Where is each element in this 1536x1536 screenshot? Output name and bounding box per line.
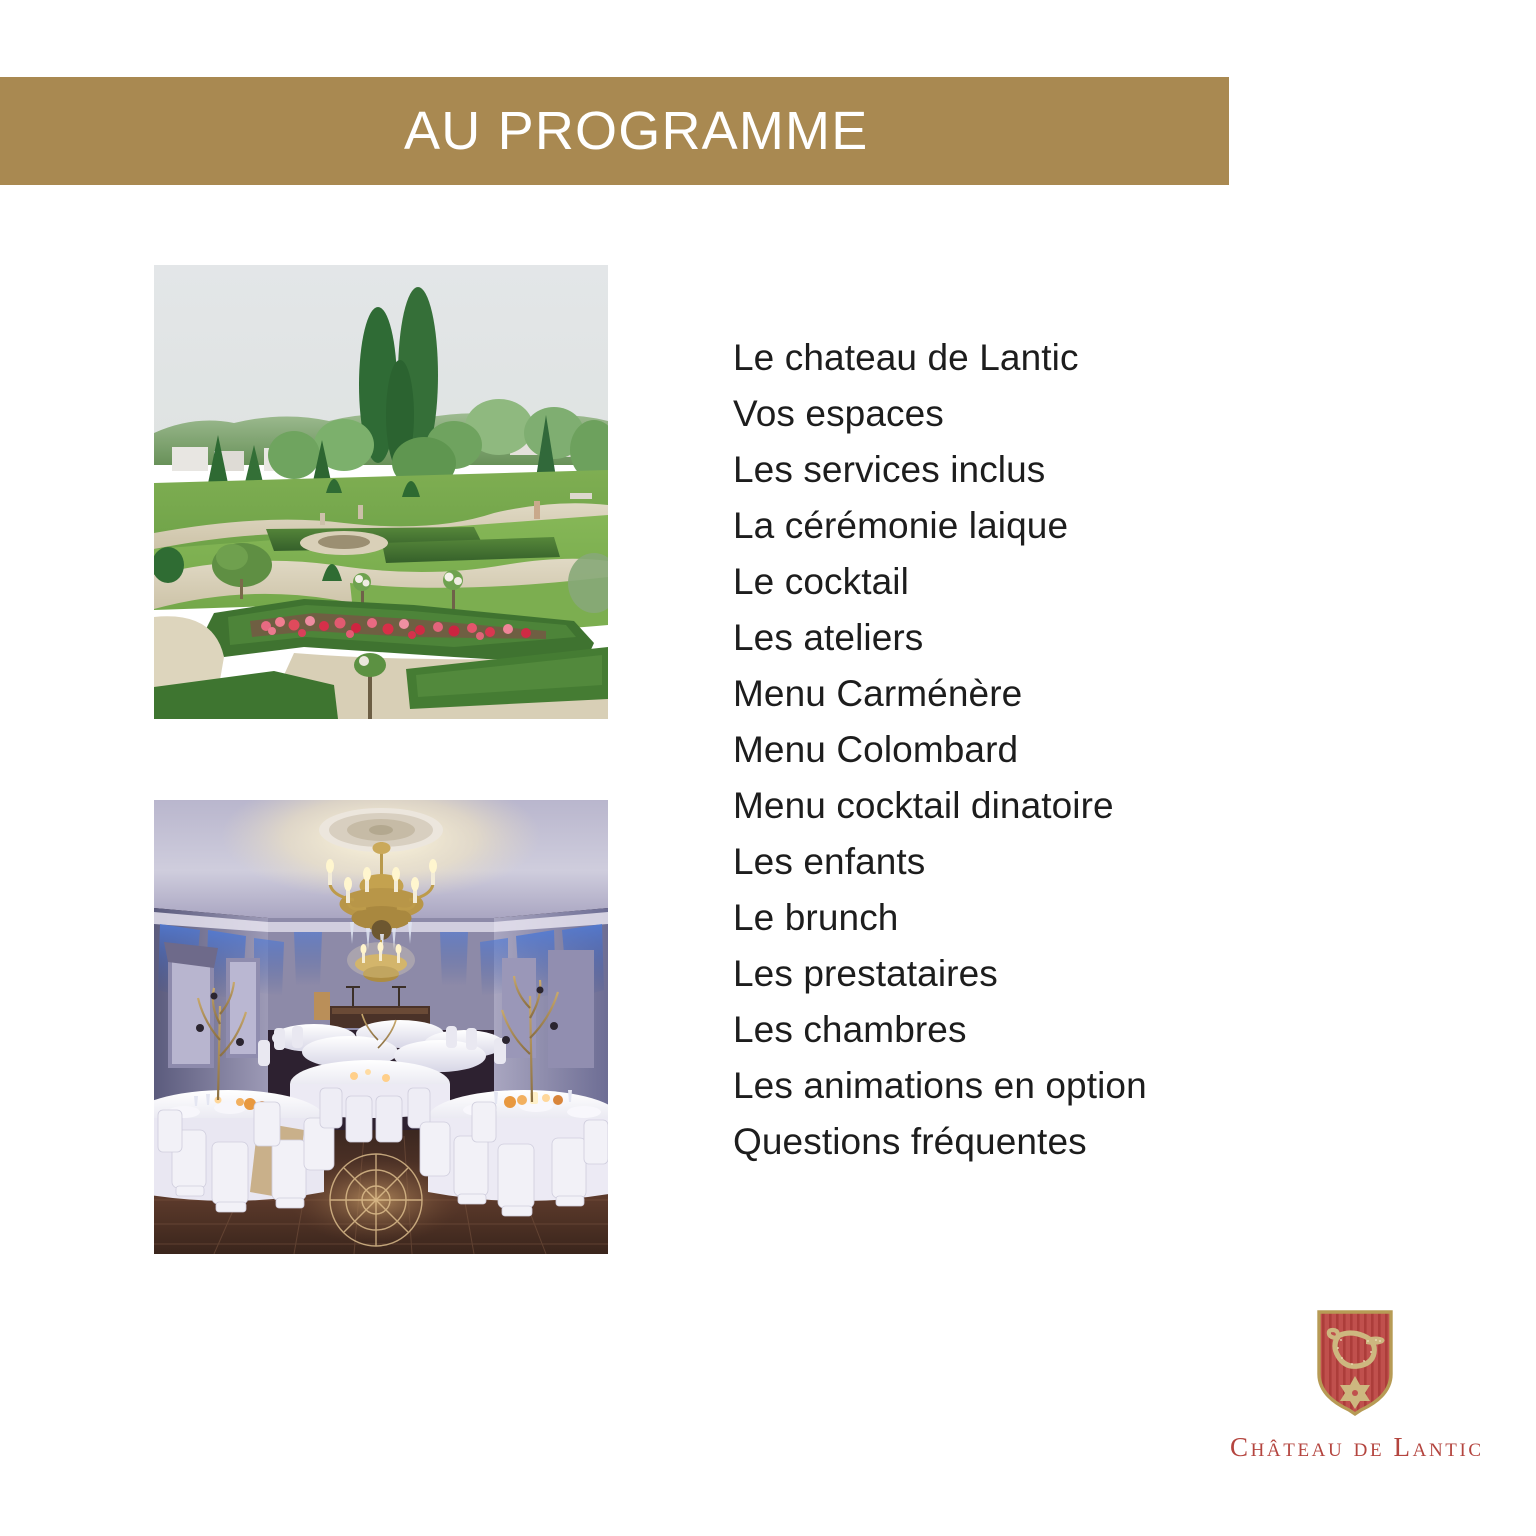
- program-list-item[interactable]: Questions fréquentes: [733, 1114, 1473, 1170]
- program-list-item[interactable]: Les services inclus: [733, 442, 1473, 498]
- program-list-item[interactable]: Le cocktail: [733, 554, 1473, 610]
- program-list-item[interactable]: Le brunch: [733, 890, 1473, 946]
- program-list-item[interactable]: Menu Colombard: [733, 722, 1473, 778]
- brand-logo: Château de Lantic: [1230, 1308, 1480, 1463]
- shield-crest-icon: [1314, 1308, 1396, 1418]
- program-list-item[interactable]: Les ateliers: [733, 610, 1473, 666]
- program-list-item[interactable]: Menu Carménère: [733, 666, 1473, 722]
- page-title: AU PROGRAMME: [404, 104, 868, 158]
- program-list: Le chateau de Lantic Vos espaces Les ser…: [733, 330, 1473, 1170]
- garden-photo: [154, 265, 608, 719]
- program-list-item[interactable]: Les enfants: [733, 834, 1473, 890]
- brand-wordmark: Château de Lantic: [1230, 1432, 1480, 1463]
- program-list-item[interactable]: Les prestataires: [733, 946, 1473, 1002]
- header-band: AU PROGRAMME: [0, 77, 1229, 185]
- program-list-item[interactable]: Les animations en option: [733, 1058, 1473, 1114]
- program-list-item[interactable]: Menu cocktail dinatoire: [733, 778, 1473, 834]
- program-list-item[interactable]: Vos espaces: [733, 386, 1473, 442]
- banquet-hall-photo: [154, 800, 608, 1254]
- program-list-item[interactable]: Le chateau de Lantic: [733, 330, 1473, 386]
- program-list-item[interactable]: La cérémonie laique: [733, 498, 1473, 554]
- garden-photo-graphic: [154, 265, 608, 719]
- program-list-item[interactable]: Les chambres: [733, 1002, 1473, 1058]
- banquet-hall-photo-graphic: [154, 800, 608, 1254]
